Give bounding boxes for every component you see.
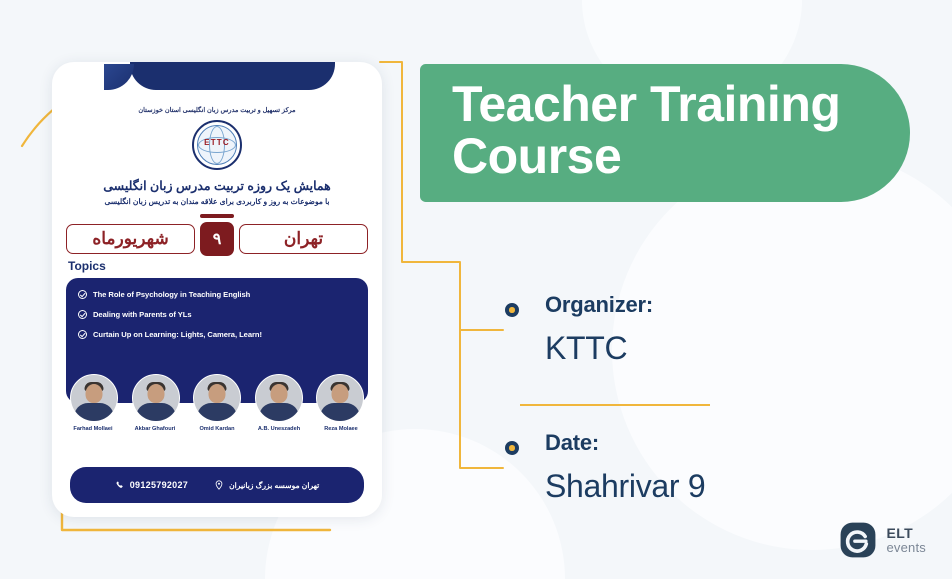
avatar — [70, 374, 118, 422]
check-circle-icon — [78, 310, 87, 319]
poster-header-shape — [130, 62, 335, 90]
topic-label: Dealing with Parents of YLs — [93, 310, 192, 319]
badge-month: شهریورماه — [66, 224, 195, 254]
title-line-1: Teacher Training — [452, 78, 910, 130]
organizer-block: Organizer: KTTC — [545, 292, 653, 367]
elt-e-glyph-icon — [839, 521, 877, 559]
topic-label: Curtain Up on Learning: Lights, Camera, … — [93, 330, 262, 339]
speaker-avatar-row — [70, 374, 364, 422]
topic-item: The Role of Psychology in Teaching Engli… — [78, 290, 358, 299]
speaker-name: Reza Molaee — [312, 426, 370, 432]
topic-item: Curtain Up on Learning: Lights, Camera, … — [78, 330, 358, 339]
brand-name-top: ELT — [886, 526, 926, 541]
avatar — [132, 374, 180, 422]
poster-canvas: مرکز تسهیل و تربیت مدرس زبان انگلیسی است… — [0, 0, 952, 579]
course-title-badge: Teacher Training Course — [420, 64, 910, 202]
badge-day: ۹ — [200, 222, 234, 256]
title-line-2: Course — [452, 130, 910, 182]
phone-icon — [115, 480, 125, 490]
location-item: تهران موسسه بزرگ زبانیران — [214, 480, 319, 490]
speaker-name: Omid Kardan — [188, 426, 246, 432]
poster-badge-row: تهران ۹ شهریورماه — [66, 222, 368, 256]
phone-number: 09125792027 — [130, 480, 188, 490]
poster-divider — [200, 214, 234, 218]
organizer-label: Organizer: — [545, 292, 653, 318]
avatar — [193, 374, 241, 422]
ettc-emblem-icon: ETTC — [192, 120, 242, 170]
date-block: Date: Shahrivar 9 — [545, 430, 705, 505]
location-label: تهران موسسه بزرگ زبانیران — [229, 481, 319, 490]
avatar — [255, 374, 303, 422]
badge-city: تهران — [239, 224, 368, 254]
check-circle-icon — [78, 290, 87, 299]
poster-headline: همایش یک روزه تربیت مدرس زبان انگلیسی — [62, 178, 372, 193]
brand-name-bottom: events — [886, 541, 926, 555]
avatar — [316, 374, 364, 422]
check-circle-icon — [78, 330, 87, 339]
speaker-name-row: Farhad Mollaei Akbar Ghafouri Omid Karda… — [64, 426, 370, 432]
organizer-value: KTTC — [545, 330, 653, 367]
elt-events-logo[interactable]: ELT events — [839, 521, 926, 559]
organizer-divider — [520, 404, 710, 406]
elt-wordmark: ELT events — [886, 526, 926, 554]
phone-item: 09125792027 — [115, 480, 188, 490]
poster-subheadline: با موضوعات به روز و کاربردی برای علاقه م… — [62, 197, 372, 206]
ettc-emblem-label: ETTC — [192, 138, 242, 147]
speaker-name: Akbar Ghafouri — [126, 426, 184, 432]
bullet-dot-date — [505, 441, 519, 455]
speaker-name: A.B. Uneszadeh — [250, 426, 308, 432]
topic-item: Dealing with Parents of YLs — [78, 310, 358, 319]
poster-contact-bar: تهران موسسه بزرگ زبانیران 09125792027 — [70, 467, 364, 503]
date-value: Shahrivar 9 — [545, 468, 705, 505]
bullet-dot-organizer — [505, 303, 519, 317]
poster-supertitle: مرکز تسهیل و تربیت مدرس زبان انگلیسی است… — [52, 106, 382, 114]
date-label: Date: — [545, 430, 705, 456]
event-poster-card[interactable]: مرکز تسهیل و تربیت مدرس زبان انگلیسی است… — [52, 62, 382, 517]
location-pin-icon — [214, 480, 224, 490]
speaker-name: Farhad Mollaei — [64, 426, 122, 432]
topics-heading: Topics — [68, 259, 106, 273]
topic-label: The Role of Psychology in Teaching Engli… — [93, 290, 250, 299]
